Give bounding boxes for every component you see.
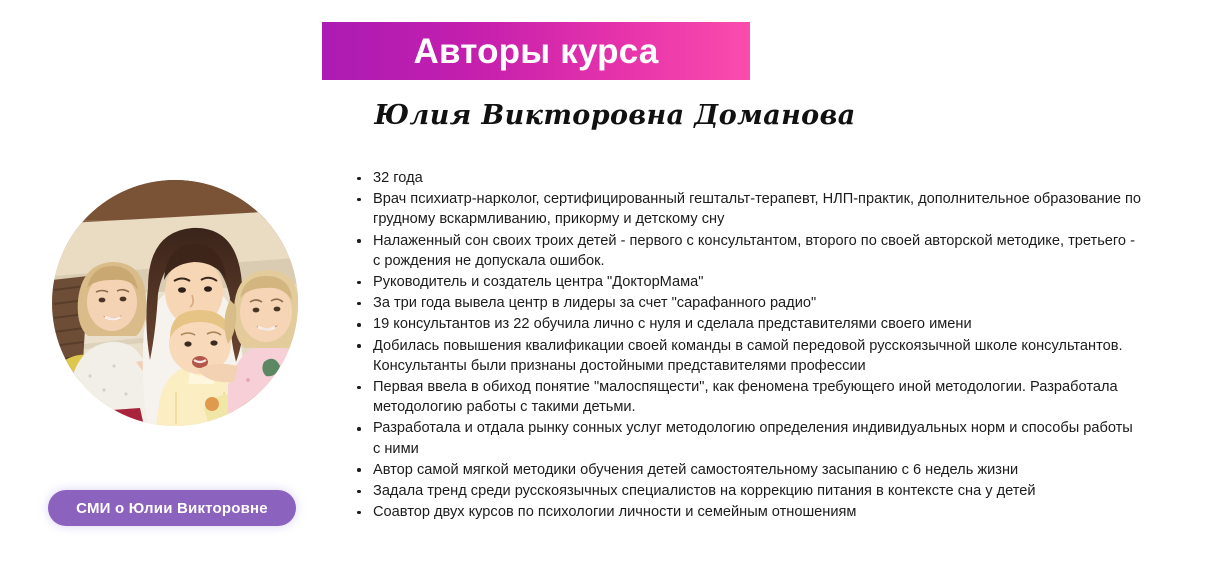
list-item: Первая ввела в обиход понятие "малоспяще… — [352, 377, 1142, 417]
course-authors-banner: Авторы курса — [322, 22, 750, 80]
author-name: Юлия Викторовна Доманова — [335, 100, 895, 131]
list-item: Разработала и отдала рынку сонных услуг … — [352, 418, 1142, 458]
author-photo-circle — [52, 180, 298, 426]
list-item: Автор самой мягкой методики обучения дет… — [352, 460, 1142, 480]
page-title: Авторы курса — [413, 34, 658, 69]
family-photo-illustration — [52, 180, 298, 426]
list-item: 32 года — [352, 168, 1142, 188]
list-item: Добилась повышения квалификации своей ко… — [352, 336, 1142, 376]
list-item: Соавтор двух курсов по психологии личнос… — [352, 502, 1142, 522]
media-about-author-button[interactable]: СМИ о Юлии Викторовне — [48, 490, 296, 526]
list-item: За три года вывела центр в лидеры за сче… — [352, 293, 1142, 313]
list-item: Руководитель и создатель центра "ДокторМ… — [352, 272, 1142, 292]
list-item: Налаженный сон своих троих детей - перво… — [352, 231, 1142, 271]
list-item: Задала тренд среди русскоязычных специал… — [352, 481, 1142, 501]
list-item: 19 консультантов из 22 обучила лично с н… — [352, 314, 1142, 334]
author-photo — [52, 180, 298, 426]
author-bio-list: 32 года Врач психиатр-нарколог, сертифиц… — [352, 168, 1142, 523]
list-item: Врач психиатр-нарколог, сертифицированны… — [352, 189, 1142, 229]
